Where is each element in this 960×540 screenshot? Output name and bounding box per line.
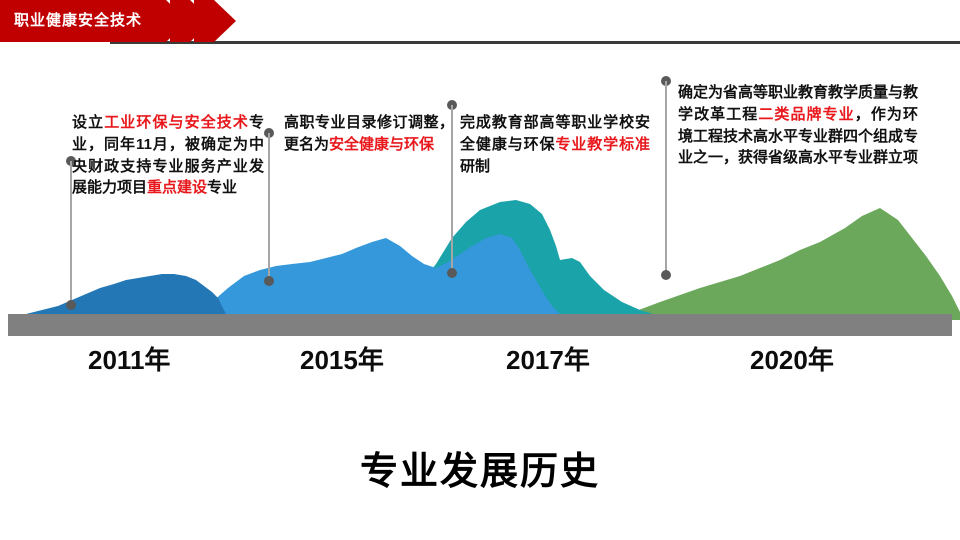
body-text: 设立	[72, 114, 104, 131]
body-text: 研制	[460, 158, 490, 175]
year-label-2011: 2011年	[88, 340, 170, 377]
highlighted-text: 重点建设	[147, 179, 207, 196]
highlighted-text: 专业教学标准	[555, 136, 650, 153]
year-label-2020: 2020年	[750, 340, 834, 377]
highlighted-text: 工业环保与安全技术	[104, 114, 249, 131]
callout-2020: 确定为省高等职业教育教学质量与教学改革工程二类品牌专业，作为环境工程技术高水平专…	[678, 82, 918, 169]
connector-dot-bottom-2020	[661, 270, 671, 280]
connector-dot-bottom-2011	[66, 300, 76, 310]
callout-2017: 完成教育部高等职业学校安全健康与环保专业教学标准研制	[460, 112, 650, 177]
chevron-right-icon	[146, 0, 236, 42]
connector-2020	[661, 76, 671, 280]
connector-2015	[264, 128, 274, 286]
callout-2015: 高职专业目录修订调整，更名为安全健康与环保	[284, 112, 454, 156]
highlighted-text: 安全健康与环保	[329, 136, 434, 153]
year-label-2015: 2015年	[300, 340, 384, 377]
connector-dot-bottom-2017	[447, 268, 457, 278]
ground-bar	[8, 314, 952, 336]
connector-line-2015	[268, 133, 270, 281]
header-title: 职业健康安全技术	[14, 9, 142, 30]
connector-line-2020	[665, 81, 667, 275]
highlighted-text: 二类品牌专业	[758, 106, 854, 123]
callout-2011: 设立工业环保与安全技术专业，同年11月，被确定为中央财政支持专业服务产业发展能力…	[72, 112, 264, 199]
body-text: 专业	[207, 179, 237, 196]
connector-dot-bottom-2015	[264, 276, 274, 286]
year-label-2017: 2017年	[506, 340, 590, 377]
slide-canvas: 职业健康安全技术 设立工业环保与安全技术专	[0, 0, 960, 540]
mountain-light-blue	[178, 234, 566, 320]
slide-title: 专业发展历史	[0, 440, 960, 495]
